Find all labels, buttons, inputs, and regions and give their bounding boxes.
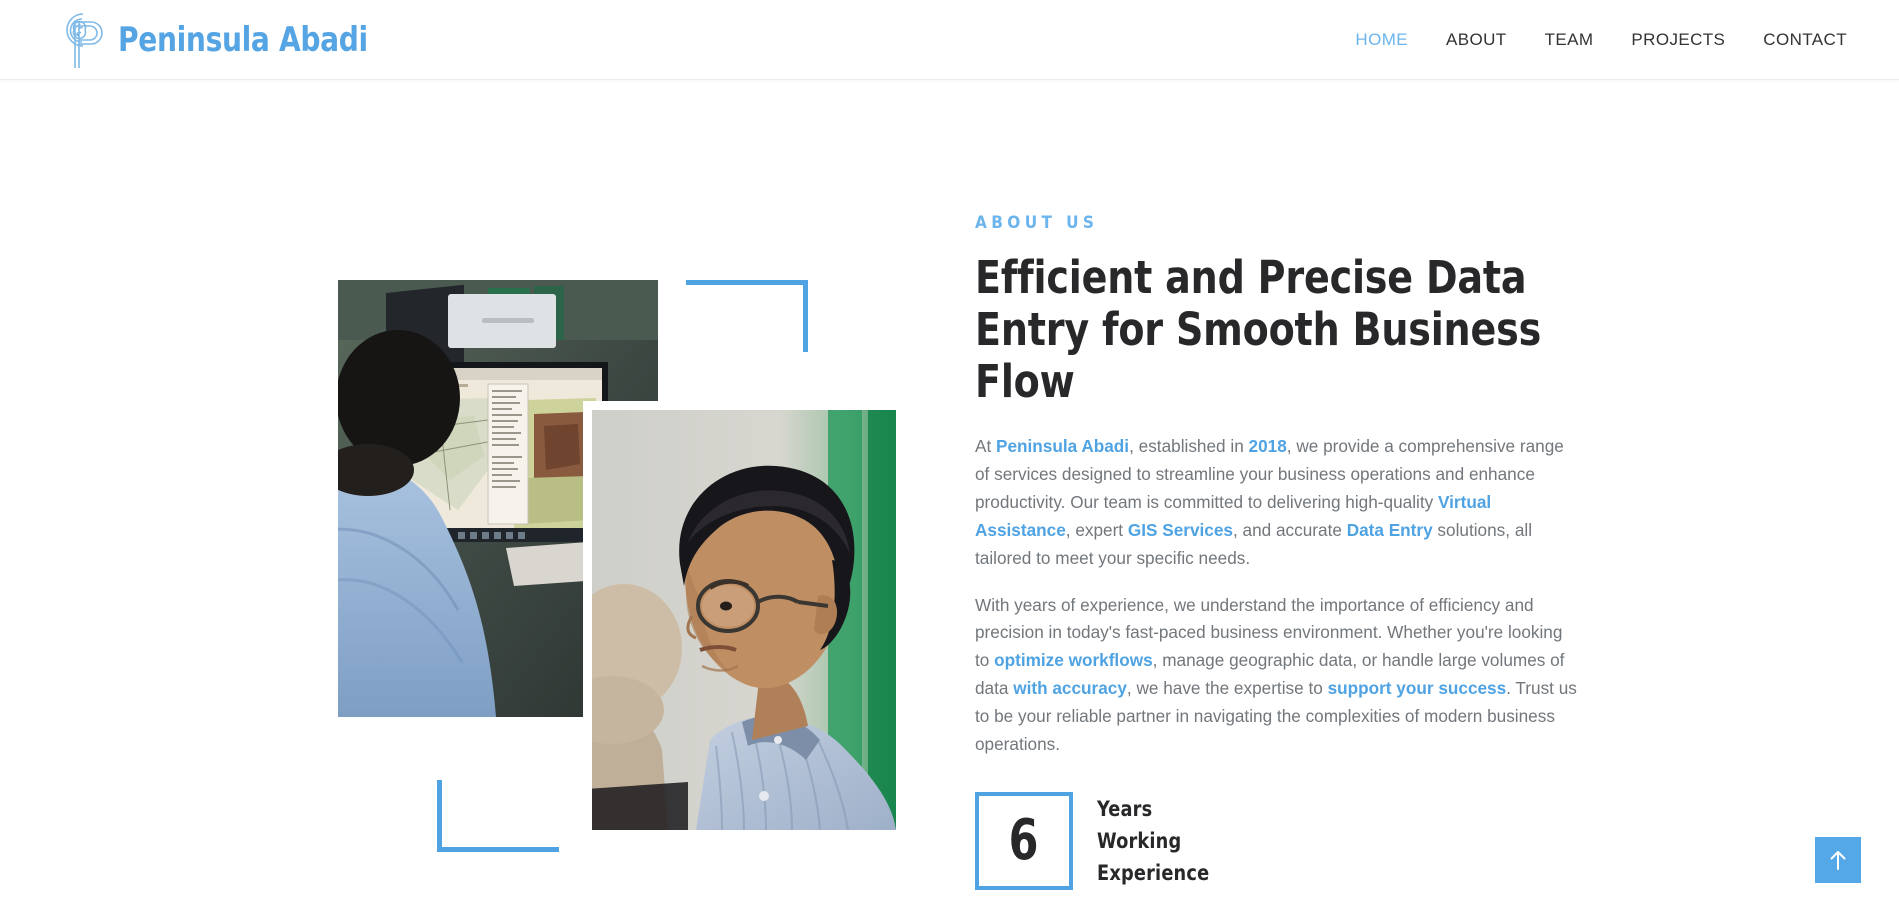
brand-name: Peninsula Abadi bbox=[118, 20, 368, 60]
experience-badge: 6 Years Working Experience bbox=[975, 792, 1585, 890]
nav-link-contact[interactable]: CONTACT bbox=[1763, 30, 1847, 50]
corner-bracket-top-right-icon bbox=[686, 280, 808, 352]
inline-text: , we have the expertise to bbox=[1127, 678, 1328, 698]
inline-highlight-link[interactable]: support your success bbox=[1328, 678, 1507, 698]
inline-highlight-link[interactable]: GIS Services bbox=[1128, 520, 1233, 540]
inline-highlight-link[interactable]: 2018 bbox=[1249, 436, 1287, 456]
inline-text: , expert bbox=[1066, 520, 1128, 540]
inline-text: At bbox=[975, 436, 996, 456]
nav-link-team[interactable]: TEAM bbox=[1545, 30, 1594, 50]
nav-link-home[interactable]: HOME bbox=[1355, 30, 1408, 50]
brand-logo[interactable]: Peninsula Abadi bbox=[52, 9, 390, 71]
site-header: Peninsula Abadi HOME ABOUT TEAM PROJECTS… bbox=[0, 0, 1899, 80]
inline-highlight-link[interactable]: optimize workflows bbox=[994, 650, 1153, 670]
inline-text: , and accurate bbox=[1233, 520, 1347, 540]
experience-label-line-2: Working bbox=[1097, 829, 1209, 853]
arrow-up-icon bbox=[1828, 849, 1848, 871]
nav-link-projects[interactable]: PROJECTS bbox=[1631, 30, 1725, 50]
about-paragraph-2: With years of experience, we understand … bbox=[975, 592, 1581, 759]
about-paragraph-1: At Peninsula Abadi, established in 2018,… bbox=[975, 433, 1581, 572]
experience-label-line-1: Years bbox=[1097, 797, 1209, 821]
about-copy-column: ABOUT US Efficient and Precise Data Entr… bbox=[975, 80, 1585, 915]
about-section: ABOUT US Efficient and Precise Data Entr… bbox=[0, 80, 1899, 915]
main-navigation: HOME ABOUT TEAM PROJECTS CONTACT bbox=[1355, 30, 1847, 50]
experience-number-box: 6 bbox=[975, 792, 1073, 890]
about-image-collage bbox=[0, 80, 950, 915]
corner-bracket-bottom-left-icon bbox=[437, 780, 559, 852]
experience-number: 6 bbox=[1009, 813, 1039, 869]
spiral-p-logo-icon bbox=[52, 9, 104, 71]
inline-text: , established in bbox=[1129, 436, 1248, 456]
experience-label-group: Years Working Experience bbox=[1097, 797, 1217, 885]
inline-highlight-link[interactable]: Peninsula Abadi bbox=[996, 436, 1129, 456]
about-title: Efficient and Precise Data Entry for Smo… bbox=[975, 252, 1577, 407]
inline-highlight-link[interactable]: with accuracy bbox=[1013, 678, 1127, 698]
about-eyebrow: ABOUT US bbox=[975, 213, 1585, 233]
nav-link-about[interactable]: ABOUT bbox=[1446, 30, 1507, 50]
inline-highlight-link[interactable]: Data Entry bbox=[1347, 520, 1433, 540]
team-member-portrait-photo bbox=[583, 401, 905, 839]
scroll-to-top-button[interactable] bbox=[1815, 837, 1861, 883]
experience-label-line-3: Experience bbox=[1097, 861, 1209, 885]
